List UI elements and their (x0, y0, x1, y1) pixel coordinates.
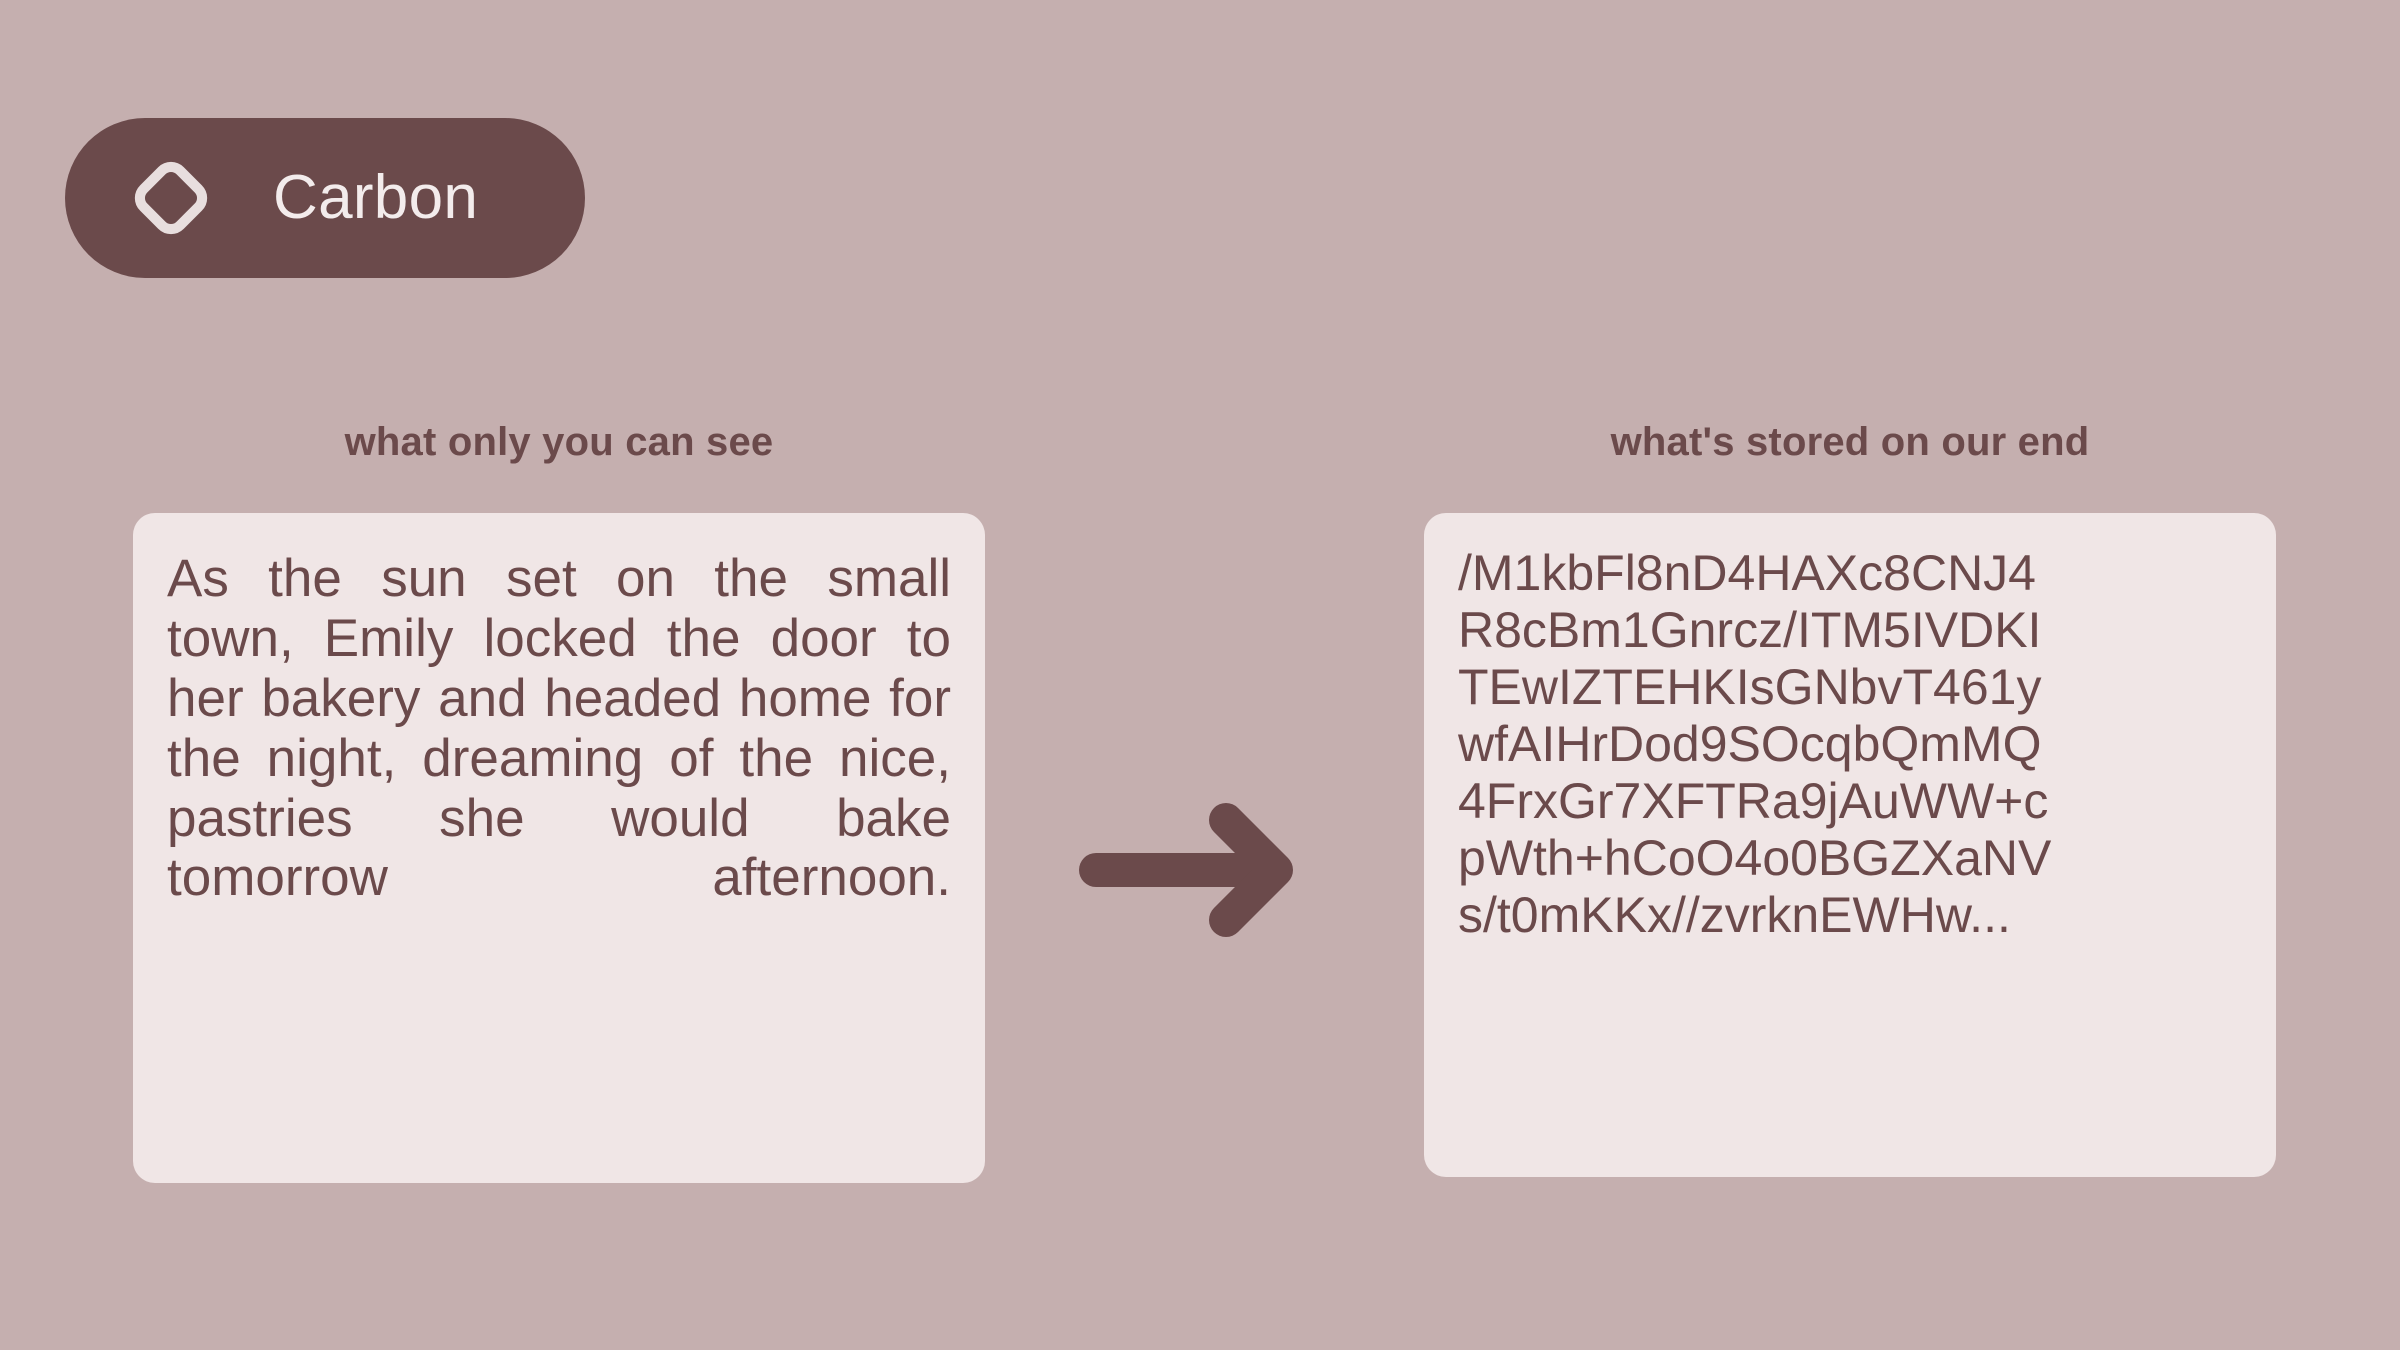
diamond-outline-icon (125, 152, 217, 244)
arrow-right-icon (1078, 800, 1328, 940)
plaintext-card: As the sun set on the small town, Emily … (133, 513, 985, 1183)
brand-pill[interactable]: Carbon (65, 118, 585, 278)
plaintext-heading: what only you can see (133, 420, 985, 465)
plaintext-message: As the sun set on the small town, Emily … (167, 549, 951, 968)
ciphertext-heading: what's stored on our end (1424, 420, 2276, 465)
brand-name: Carbon (273, 167, 478, 229)
ciphertext-card: /M1kbFl8nD4HAXc8CNJ4 R8cBm1Gnrcz/ITM5IVD… (1424, 513, 2276, 1177)
plaintext-panel: what only you can see As the sun set on … (133, 420, 985, 1183)
ciphertext-panel: what's stored on our end /M1kbFl8nD4HAXc… (1424, 420, 2276, 1177)
ciphertext-value: /M1kbFl8nD4HAXc8CNJ4 R8cBm1Gnrcz/ITM5IVD… (1458, 545, 2242, 944)
